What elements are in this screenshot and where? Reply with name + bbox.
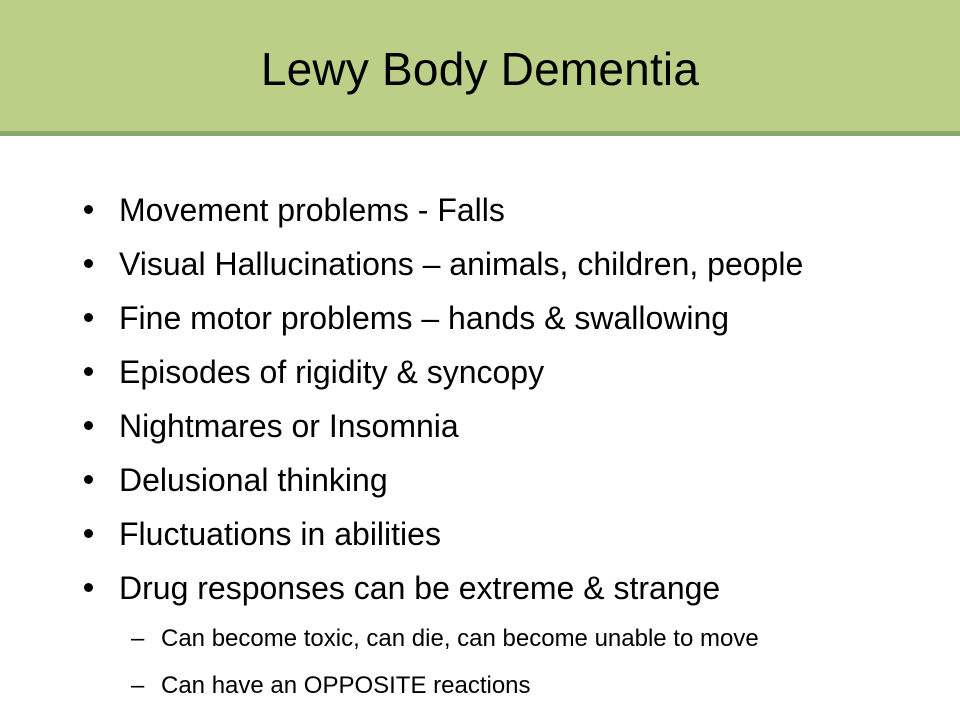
bullet-dot-icon xyxy=(78,453,119,507)
list-item: Drug responses can be extreme & strange xyxy=(78,561,948,615)
bullet-dot-icon xyxy=(78,183,119,237)
sub-list-item-label: Can become toxic, can die, can become un… xyxy=(161,615,948,662)
bullet-dash-icon: – xyxy=(131,615,161,662)
list-item: Visual Hallucinations – animals, childre… xyxy=(78,237,948,291)
list-item: Delusional thinking xyxy=(78,453,948,507)
slide: Lewy Body Dementia Movement problems - F… xyxy=(0,0,960,720)
bullet-dash-icon: – xyxy=(131,662,161,709)
list-item-label: Drug responses can be extreme & strange xyxy=(119,561,948,615)
bullet-dot-icon xyxy=(78,237,119,291)
list-item: Fluctuations in abilities xyxy=(78,507,948,561)
slide-title: Lewy Body Dementia xyxy=(0,0,960,131)
list-item: Episodes of rigidity & syncopy xyxy=(78,345,948,399)
list-item-label: Episodes of rigidity & syncopy xyxy=(119,345,948,399)
list-item-label: Movement problems - Falls xyxy=(119,183,948,237)
bullet-dot-icon xyxy=(78,345,119,399)
slide-body: Movement problems - Falls Visual Halluci… xyxy=(0,136,960,720)
sub-list-item: – Can become toxic, can die, can become … xyxy=(78,615,948,662)
bullet-dot-icon xyxy=(78,561,119,615)
list-item-label: Fine motor problems – hands & swallowing xyxy=(119,291,948,345)
bullet-dot-icon xyxy=(78,507,119,561)
bullet-dot-icon xyxy=(78,399,119,453)
bullet-dot-icon xyxy=(78,291,119,345)
sub-list-item-label: Can have an OPPOSITE reactions xyxy=(161,662,948,709)
sub-list-item: – Can have an OPPOSITE reactions xyxy=(78,662,948,709)
list-item: Nightmares or Insomnia xyxy=(78,399,948,453)
list-item-label: Fluctuations in abilities xyxy=(119,507,948,561)
list-item: Movement problems - Falls xyxy=(78,183,948,237)
list-item-label: Nightmares or Insomnia xyxy=(119,399,948,453)
list-item: Fine motor problems – hands & swallowing xyxy=(78,291,948,345)
bullet-list: Movement problems - Falls Visual Halluci… xyxy=(78,183,948,709)
list-item-label: Visual Hallucinations – animals, childre… xyxy=(119,237,948,291)
list-item-label: Delusional thinking xyxy=(119,453,948,507)
